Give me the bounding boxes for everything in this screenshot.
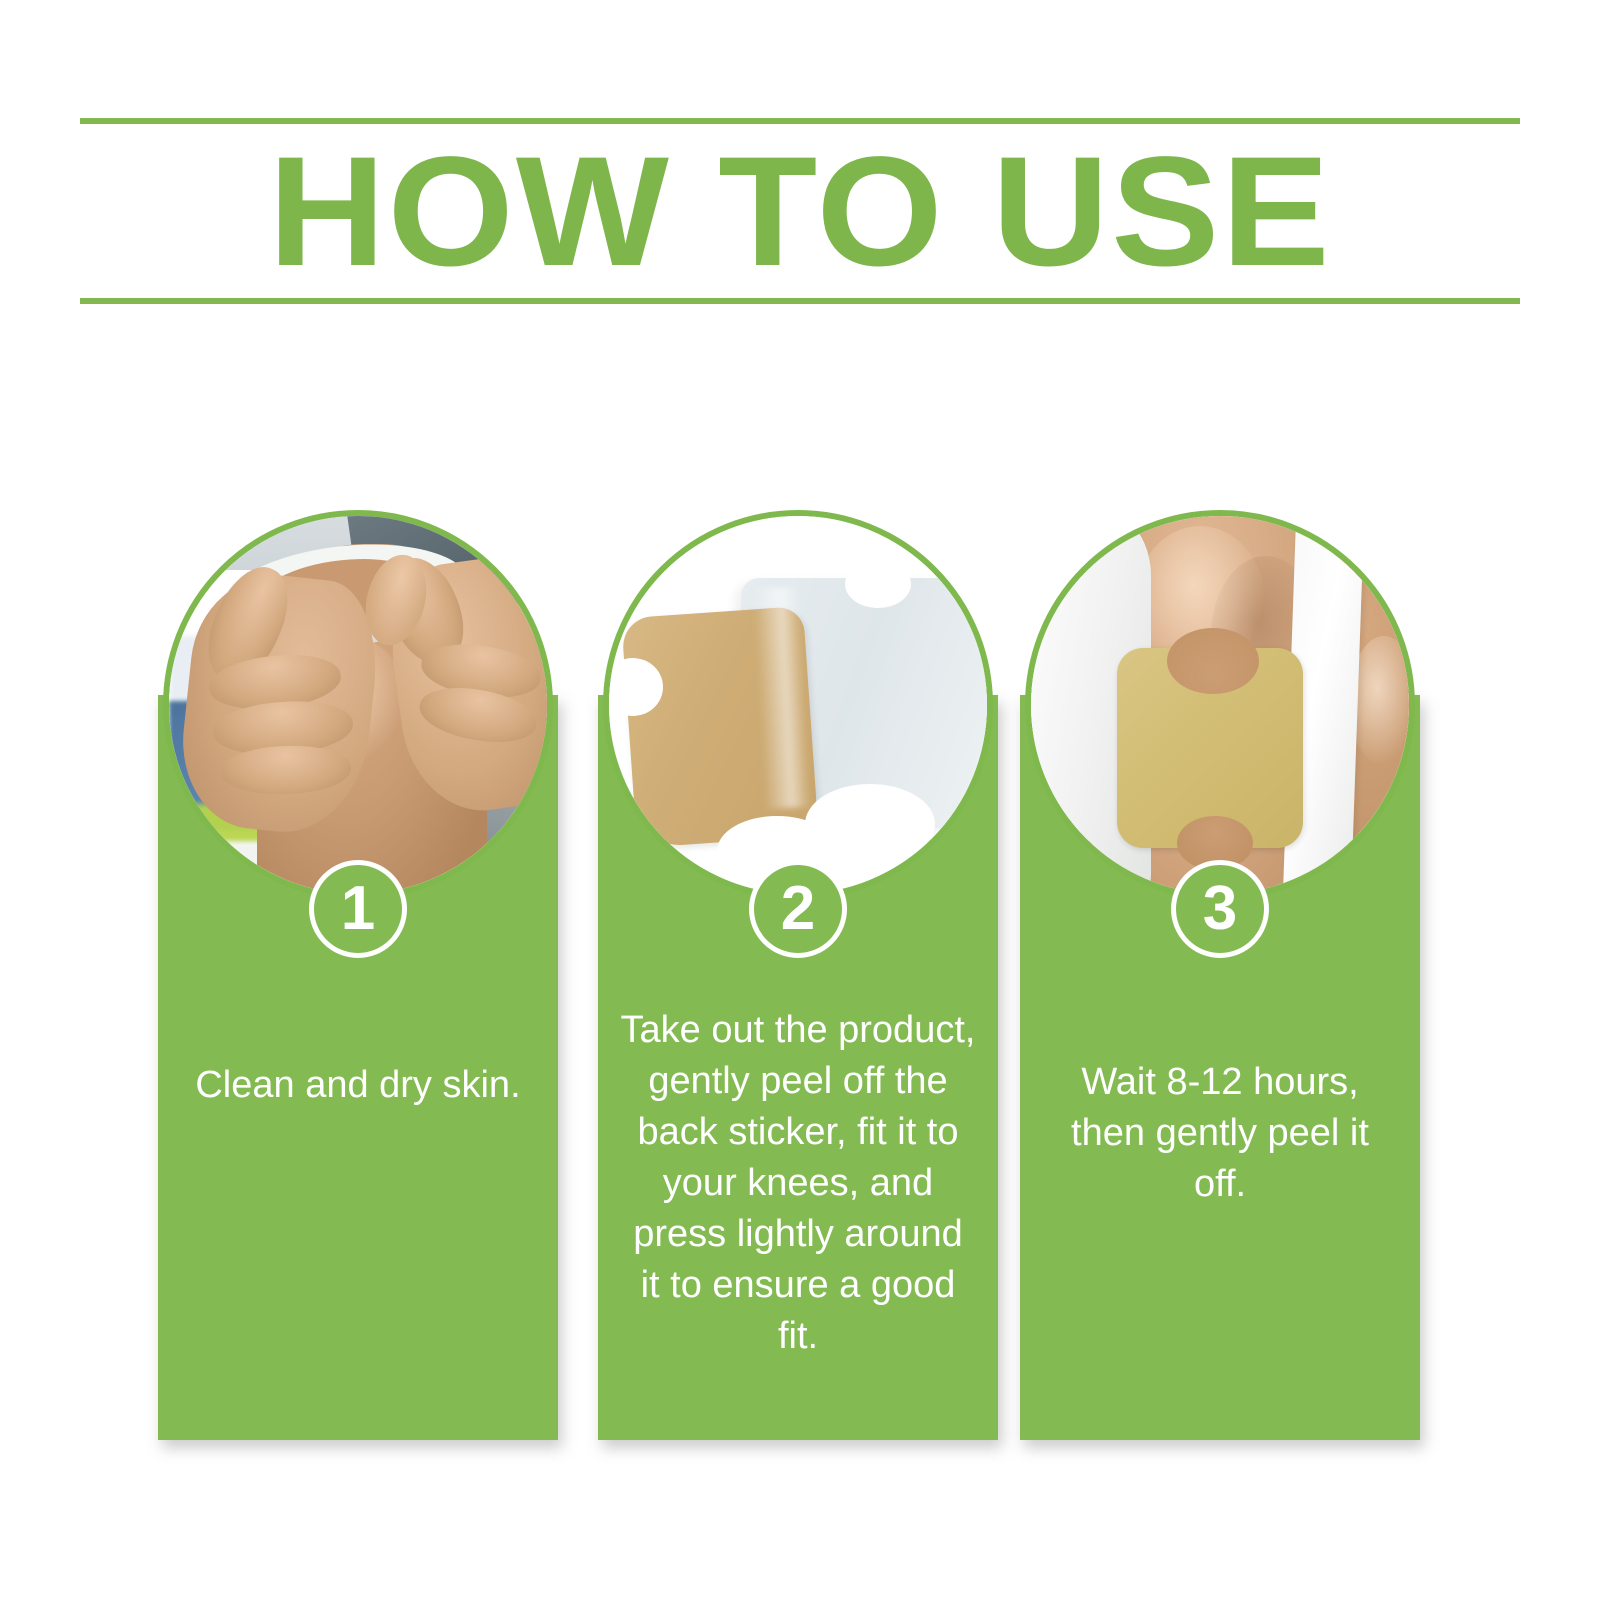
title-rule-top xyxy=(80,118,1520,124)
knee-patch-applied-photo xyxy=(1025,510,1415,900)
header: HOW TO USE xyxy=(80,118,1520,304)
step-card-3: 3 Wait 8-12 hours, then gently peel it o… xyxy=(1020,505,1420,1440)
photo-1-inner xyxy=(169,516,547,894)
step-caption-3: Wait 8-12 hours, then gently peel it off… xyxy=(1042,1057,1398,1210)
page-title: HOW TO USE xyxy=(51,126,1549,298)
photo-3-inner xyxy=(1031,516,1409,894)
step-badge-3: 3 xyxy=(1171,860,1269,958)
steps-row: 1 Clean and dry skin. 2 Take out the pro… xyxy=(0,505,1600,1465)
knee-patch-peeling-backing-photo xyxy=(603,510,993,900)
step-card-2: 2 Take out the product, gently peel off … xyxy=(598,505,998,1440)
hands-holding-knee-photo xyxy=(163,510,553,900)
step-badge-1: 1 xyxy=(309,860,407,958)
photo-2-inner xyxy=(609,516,987,894)
step-caption-1: Clean and dry skin. xyxy=(180,1060,536,1111)
step-card-1: 1 Clean and dry skin. xyxy=(158,505,558,1440)
step-badge-2: 2 xyxy=(749,860,847,958)
step-caption-2: Take out the product, gently peel off th… xyxy=(620,1005,976,1362)
